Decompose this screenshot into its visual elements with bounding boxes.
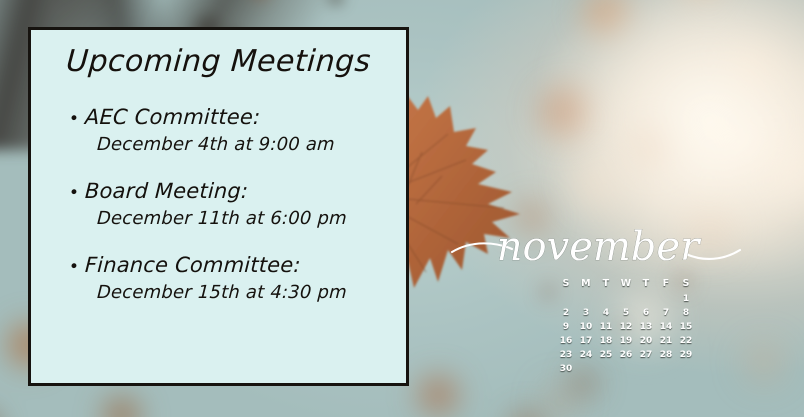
- calendar-day: 4: [596, 306, 616, 320]
- calendar-day: 3: [576, 306, 596, 320]
- meeting-name-row: • Finance Committee:: [68, 253, 406, 277]
- calendar-day: [656, 292, 676, 306]
- calendar-day: 10: [576, 320, 596, 334]
- november-calendar: november S M T W T F S 1: [448, 218, 748, 398]
- meeting-name-row: • AEC Committee:: [68, 105, 406, 129]
- meeting-detail: December 11th at 6:00 pm: [96, 208, 406, 229]
- calendar-day: 30: [556, 362, 576, 376]
- weekday-label: T: [596, 276, 616, 292]
- calendar-day: [556, 292, 576, 306]
- calendar-day: 20: [636, 334, 656, 348]
- calendar-day: 1: [676, 292, 696, 306]
- calendar-day: 21: [656, 334, 676, 348]
- meeting-name: Board Meeting:: [84, 179, 249, 203]
- bullet-icon: •: [68, 111, 85, 128]
- calendar-day: [616, 292, 636, 306]
- calendar-day: [576, 292, 596, 306]
- calendar-day: [636, 362, 656, 376]
- meeting-name: AEC Committee:: [84, 105, 261, 129]
- page-title: Upcoming Meetings: [30, 44, 407, 79]
- calendar-day: [636, 292, 656, 306]
- meetings-list: • AEC Committee: December 4th at 9:00 am…: [31, 105, 406, 303]
- weekday-label: F: [656, 276, 676, 292]
- calendar-week-row: 30: [556, 362, 696, 376]
- bullet-icon: •: [68, 259, 85, 276]
- calendar-day: 22: [676, 334, 696, 348]
- calendar-day: 18: [596, 334, 616, 348]
- calendar-day: [656, 362, 676, 376]
- meeting-detail: December 4th at 9:00 am: [96, 134, 406, 155]
- calendar-month-script: november: [448, 218, 748, 274]
- calendar-day: 5: [616, 306, 636, 320]
- calendar-day: 27: [636, 348, 656, 362]
- calendar-day: 29: [676, 348, 696, 362]
- calendar-day: 17: [576, 334, 596, 348]
- calendar-grid: S M T W T F S 1 2 3 4 5: [556, 276, 696, 376]
- calendar-day: 19: [616, 334, 636, 348]
- calendar-week-row: 23 24 25 26 27 28 29: [556, 348, 696, 362]
- meeting-name-row: • Board Meeting:: [68, 179, 406, 203]
- calendar-day: [596, 362, 616, 376]
- month-label: november: [497, 224, 702, 270]
- calendar-week-row: 9 10 11 12 13 14 15: [556, 320, 696, 334]
- list-item: • Board Meeting: December 11th at 6:00 p…: [69, 179, 406, 229]
- weekday-label: M: [576, 276, 596, 292]
- calendar-day: 2: [556, 306, 576, 320]
- calendar-day: 15: [676, 320, 696, 334]
- calendar-weekday-header: S M T W T F S: [556, 276, 696, 292]
- calendar-day: [596, 292, 616, 306]
- calendar-week-row: 2 3 4 5 6 7 8: [556, 306, 696, 320]
- calendar-week-row: 1: [556, 292, 696, 306]
- calendar-day: [616, 362, 636, 376]
- calendar-day: 13: [636, 320, 656, 334]
- weekday-label: S: [556, 276, 576, 292]
- upcoming-meetings-card: Upcoming Meetings • AEC Committee: Decem…: [28, 27, 409, 386]
- calendar-day: 28: [656, 348, 676, 362]
- calendar-day: 24: [576, 348, 596, 362]
- calendar-day: 12: [616, 320, 636, 334]
- calendar-day: 6: [636, 306, 656, 320]
- poster-canvas: Upcoming Meetings • AEC Committee: Decem…: [0, 0, 804, 417]
- calendar-day: 16: [556, 334, 576, 348]
- calendar-day: 23: [556, 348, 576, 362]
- weekday-label: S: [676, 276, 696, 292]
- meeting-detail: December 15th at 4:30 pm: [96, 282, 406, 303]
- bullet-icon: •: [68, 185, 85, 202]
- calendar-day: 14: [656, 320, 676, 334]
- calendar-day: 11: [596, 320, 616, 334]
- calendar-week-row: 16 17 18 19 20 21 22: [556, 334, 696, 348]
- calendar-day: 8: [676, 306, 696, 320]
- weekday-label: T: [636, 276, 656, 292]
- calendar-day: 9: [556, 320, 576, 334]
- calendar-day: [676, 362, 696, 376]
- weekday-label: W: [616, 276, 636, 292]
- calendar-day: 25: [596, 348, 616, 362]
- calendar-day: [576, 362, 596, 376]
- list-item: • Finance Committee: December 15th at 4:…: [69, 253, 406, 303]
- list-item: • AEC Committee: December 4th at 9:00 am: [69, 105, 406, 155]
- meeting-name: Finance Committee:: [84, 253, 301, 277]
- calendar-day: 26: [616, 348, 636, 362]
- calendar-day: 7: [656, 306, 676, 320]
